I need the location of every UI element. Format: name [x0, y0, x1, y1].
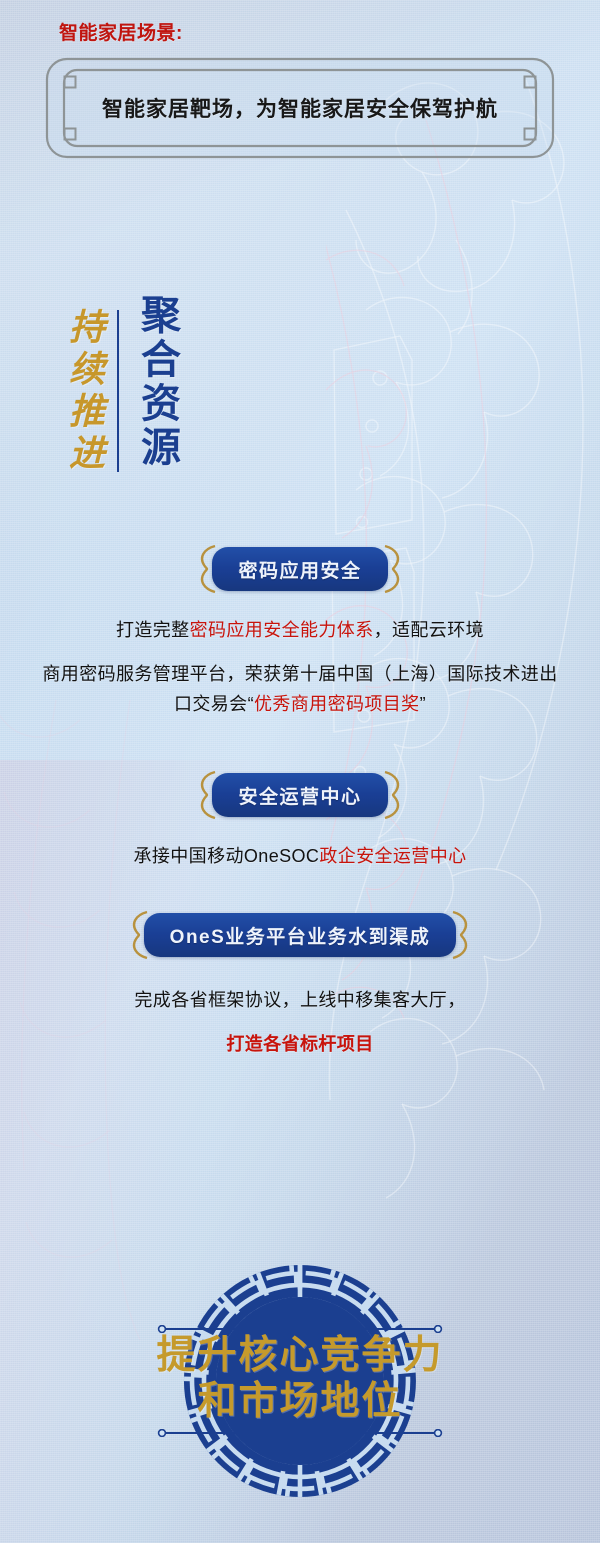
paragraph: 打造各省标杆项目	[34, 1029, 566, 1059]
scene-frame: 智能家居靶场，为智能家居安全保驾护航	[44, 56, 556, 160]
content-block: OneS业务平台业务水到渠成完成各省框架协议，上线中移集客大厅，打造各省标杆项目	[0, 911, 600, 1059]
text-plain: 承接中国移动OneSOC	[133, 846, 319, 866]
badge-ornament-left-icon	[195, 770, 217, 820]
badge-ornament-right-icon	[383, 544, 405, 594]
section-badge[interactable]: OneS业务平台业务水到渠成	[144, 913, 457, 957]
paragraph: 完成各省框架协议，上线中移集客大厅，	[34, 985, 566, 1015]
emblem-divider-line-bottom	[157, 1429, 443, 1437]
scene-frame-text: 智能家居靶场，为智能家居安全保驾护航	[44, 56, 556, 160]
text-highlight: 密码应用安全能力体系	[190, 620, 374, 640]
emblem-text: 提升核心竞争力 和市场地位	[131, 1333, 469, 1425]
badge-ornament-right-icon	[383, 770, 405, 820]
emblem-line-1: 提升核心竞争力	[131, 1333, 469, 1379]
section-badge[interactable]: 密码应用安全	[212, 547, 387, 591]
text-plain: 打造完整	[116, 620, 190, 640]
paragraph: 承接中国移动OneSOC政企安全运营中心	[34, 841, 566, 871]
text-plain: 完成各省框架协议，上线中移集客大厅，	[134, 990, 465, 1010]
text-plain: ”	[420, 694, 426, 714]
paragraph: 打造完整密码应用安全能力体系，适配云环境	[34, 615, 566, 645]
paragraph: 商用密码服务管理平台，荣获第十届中国（上海）国际技术进出口交易会“优秀商用密码项…	[34, 659, 566, 719]
block-paragraphs: 完成各省框架协议，上线中移集客大厅，打造各省标杆项目	[0, 985, 600, 1059]
scene-heading: 智能家居场景:	[59, 18, 183, 45]
badge-ornament-right-icon	[451, 910, 473, 960]
badge-row: 安全运营中心	[0, 771, 600, 819]
emblem-divider-line-top	[157, 1325, 443, 1333]
badge-ornament-left-icon	[127, 910, 149, 960]
text-highlight: 政企安全运营中心	[319, 846, 466, 866]
text-plain: ，适配云环境	[374, 620, 484, 640]
text-highlight: 打造各省标杆项目	[226, 1034, 373, 1054]
vertical-title-blue: 聚合资源	[128, 294, 186, 470]
badge-ornament-left-icon	[195, 544, 217, 594]
badge-label: 安全运营中心	[238, 782, 361, 809]
emblem-line-2: 和市场地位	[131, 1379, 469, 1425]
vertical-title: 持续推进 聚合资源	[50, 294, 190, 484]
block-paragraphs: 打造完整密码应用安全能力体系，适配云环境商用密码服务管理平台，荣获第十届中国（上…	[0, 615, 600, 719]
vertical-title-gold: 持续推进	[58, 308, 110, 476]
badge-label: 密码应用安全	[238, 556, 361, 583]
text-highlight: 优秀商用密码项目奖	[254, 694, 420, 714]
content-block: 安全运营中心承接中国移动OneSOC政企安全运营中心	[0, 771, 600, 871]
bottom-emblem: 提升核心竞争力 和市场地位	[131, 1251, 469, 1543]
badge-label: OneS业务平台业务水到渠成	[170, 922, 431, 949]
badge-row: 密码应用安全	[0, 545, 600, 593]
section-badge[interactable]: 安全运营中心	[212, 773, 387, 817]
content-block: 密码应用安全打造完整密码应用安全能力体系，适配云环境商用密码服务管理平台，荣获第…	[0, 545, 600, 719]
block-paragraphs: 承接中国移动OneSOC政企安全运营中心	[0, 841, 600, 871]
badge-row: OneS业务平台业务水到渠成	[0, 911, 600, 959]
vertical-title-divider	[117, 310, 119, 472]
